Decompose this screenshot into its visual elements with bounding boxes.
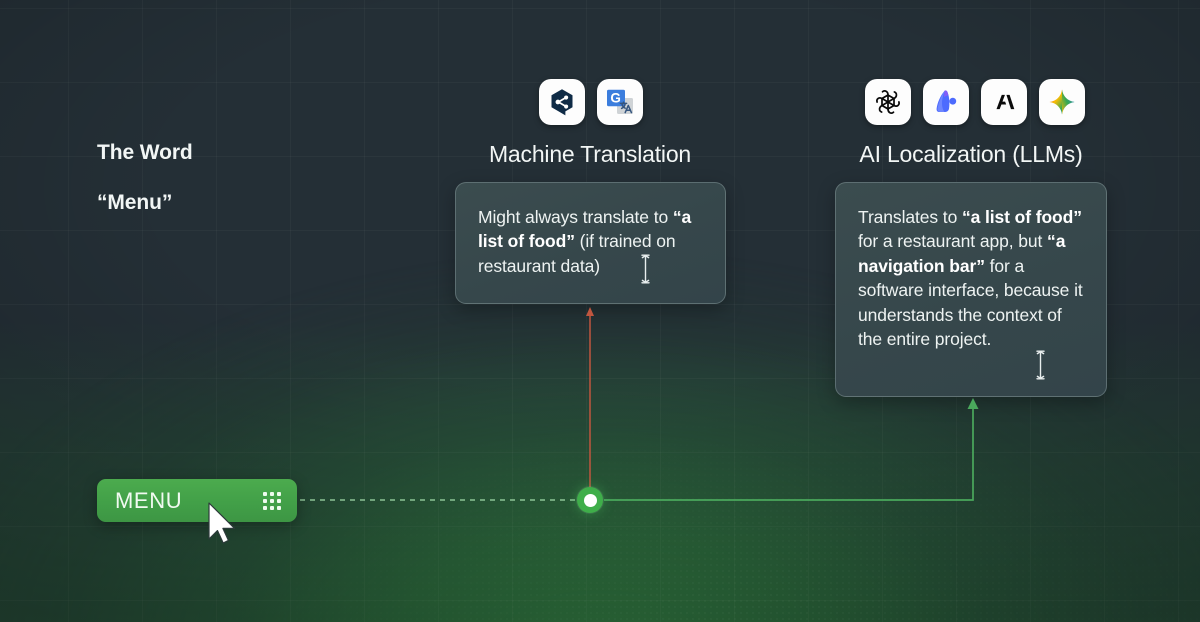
ai-localization-title: AI Localization (LLMs) [821,141,1121,168]
gemini-icon[interactable] [1039,79,1085,125]
menu-button[interactable]: MENU [97,479,297,522]
anthropic-icon[interactable] [981,79,1027,125]
machine-translation-title: Machine Translation [440,141,740,168]
left-column-title: The Word [97,141,193,165]
menu-button-label: MENU [115,488,182,514]
ai-seg-0: Translates to [858,207,962,227]
infographic-canvas: The Word “Menu” G [0,0,1200,622]
machine-translation-icon-row: G [539,79,643,125]
mt-seg-0: Might always translate to [478,207,673,227]
openai-icon[interactable] [865,79,911,125]
ai-seg-1: “a list of food” [962,207,1082,227]
ai-localization-card-text: Translates to “a list of food” for a res… [836,183,1106,371]
left-column-subtitle: “Menu” [97,191,172,215]
source-node[interactable] [577,487,603,513]
google-translate-icon[interactable]: G [597,79,643,125]
machine-translation-card: Might always translate to “a list of foo… [455,182,726,304]
deepseek-icon[interactable] [923,79,969,125]
ai-seg-2: for a restaurant app, but [858,231,1047,251]
ai-localization-card: Translates to “a list of food” for a res… [835,182,1107,397]
source-node-center [584,494,597,507]
svg-text:G: G [610,91,621,106]
ai-localization-icon-row [865,79,1085,125]
deepl-icon[interactable] [539,79,585,125]
grid-apps-icon[interactable] [263,492,281,510]
machine-translation-card-text: Might always translate to “a list of foo… [456,183,725,298]
